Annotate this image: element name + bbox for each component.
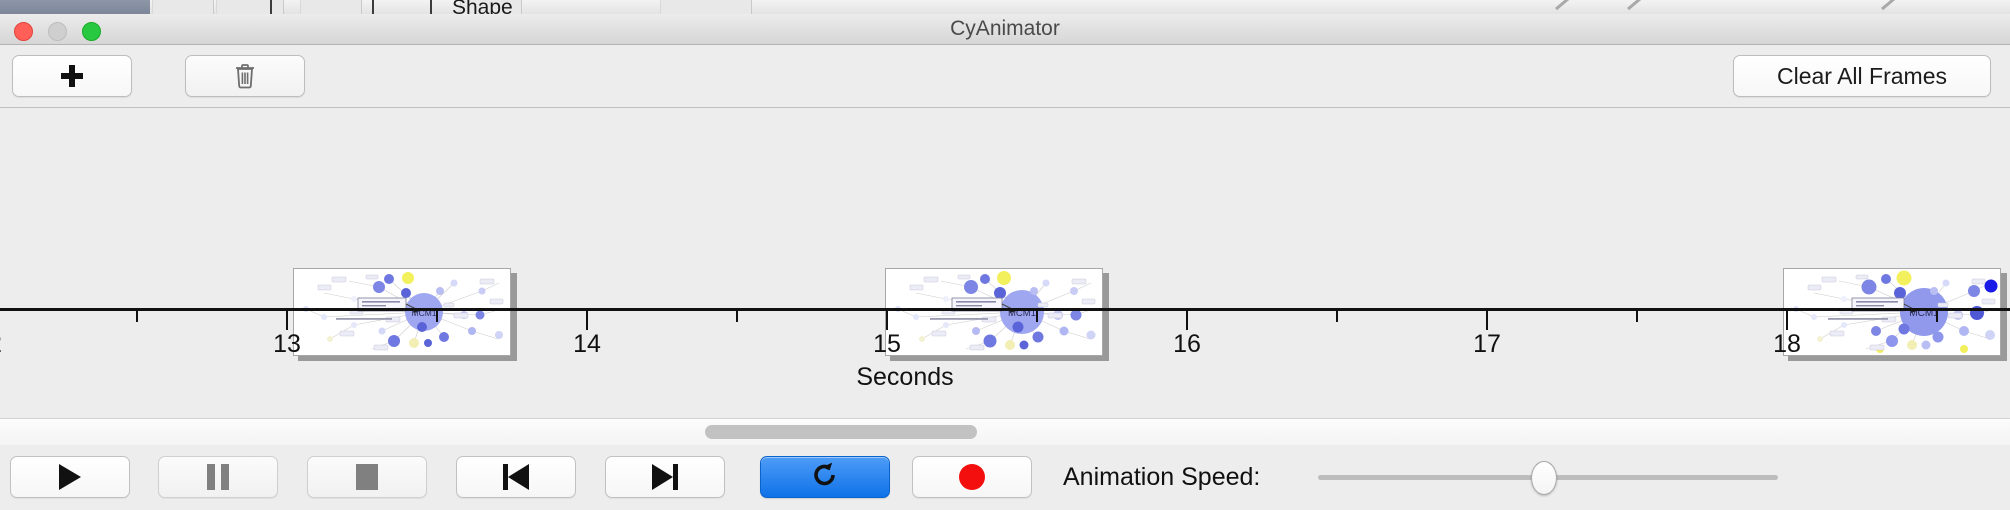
animation-speed-label: Animation Speed: xyxy=(1063,456,1260,498)
timeline-axis xyxy=(0,308,2010,311)
pause-icon xyxy=(207,464,229,490)
record-button[interactable] xyxy=(912,456,1032,498)
background-window-strip: Shape xyxy=(0,0,2010,14)
stop-button[interactable] xyxy=(307,456,427,498)
axis-tick-minor xyxy=(136,311,138,322)
first-frame-button[interactable] xyxy=(456,456,576,498)
delete-frame-button[interactable] xyxy=(185,55,305,97)
background-glyph xyxy=(430,0,432,14)
axis-tick-label: 2 xyxy=(0,330,2,359)
axis-tick-label: 18 xyxy=(1773,330,1801,359)
axis-tick-minor xyxy=(436,311,438,322)
axis-tick-minor xyxy=(1936,311,1938,322)
clear-all-frames-label: Clear All Frames xyxy=(1777,63,1947,90)
loop-icon xyxy=(810,460,840,495)
axis-tick-major xyxy=(1186,311,1188,330)
background-toolbar-block xyxy=(300,0,362,14)
axis-tick-minor xyxy=(1636,311,1638,322)
axis-tick-minor xyxy=(736,311,738,322)
plus-icon xyxy=(60,64,84,88)
axis-tick-major xyxy=(886,311,888,330)
background-toolbar-block xyxy=(152,0,214,14)
frame-thumbnail: MCM1 xyxy=(293,268,511,356)
clear-all-frames-button[interactable]: Clear All Frames xyxy=(1733,55,1991,97)
axis-tick-label: 16 xyxy=(1173,330,1201,359)
play-icon xyxy=(59,464,81,490)
axis-tick-label: 17 xyxy=(1473,330,1501,359)
window-title: CyAnimator xyxy=(0,14,2010,44)
axis-tick-label: 15 xyxy=(873,330,901,359)
axis-tick-major xyxy=(1486,311,1488,330)
background-toolbar-block xyxy=(660,0,752,14)
axis-tick-label: 13 xyxy=(273,330,301,359)
background-glyph xyxy=(372,0,374,14)
skip-to-start-icon xyxy=(503,464,529,490)
cyanimator-window: Shape CyAnimator Clear All Fr xyxy=(0,0,2010,510)
background-window-label: Shape xyxy=(452,0,513,14)
frame-thumbnail: MCM1 xyxy=(885,268,1103,356)
slider-thumb[interactable] xyxy=(1531,461,1557,495)
timeline-scrollbar-thumb[interactable] xyxy=(705,425,977,439)
axis-title: Seconds xyxy=(0,363,2010,392)
background-chevron-icon xyxy=(1555,0,1577,14)
axis-tick-major xyxy=(1786,311,1788,330)
background-glyph xyxy=(270,0,272,14)
axis-tick-label: 14 xyxy=(573,330,601,359)
background-chevron-icon xyxy=(1627,0,1649,14)
axis-tick-major xyxy=(586,311,588,330)
timeline-frame[interactable]: MCM1 xyxy=(293,268,517,361)
record-icon xyxy=(959,464,985,490)
background-chevron-icon xyxy=(1881,0,1903,14)
timeline-frame[interactable]: MCM1 xyxy=(885,268,1109,361)
axis-title-text: Seconds xyxy=(856,363,953,391)
animation-speed-slider[interactable] xyxy=(1318,475,1778,480)
add-frame-button[interactable] xyxy=(12,55,132,97)
frame-toolbar: Clear All Frames xyxy=(0,45,2010,108)
timeline-panel[interactable]: MCM1 xyxy=(0,108,2010,418)
background-toolbar-block xyxy=(216,0,284,14)
axis-tick-minor xyxy=(1036,311,1038,322)
timeline-scrollbar[interactable] xyxy=(0,418,2010,446)
skip-to-end-icon xyxy=(652,464,678,490)
loop-button[interactable] xyxy=(760,456,890,498)
timeline-content: MCM1 xyxy=(0,108,2010,418)
frame-thumbnail: MCM1 xyxy=(1783,268,2001,356)
trash-icon xyxy=(234,63,256,89)
title-bar: CyAnimator xyxy=(0,14,2010,45)
axis-tick-minor xyxy=(1336,311,1338,322)
last-frame-button[interactable] xyxy=(605,456,725,498)
playback-control-bar: Animation Speed: xyxy=(0,445,2010,510)
axis-tick-major xyxy=(286,311,288,330)
pause-button[interactable] xyxy=(158,456,278,498)
play-button[interactable] xyxy=(10,456,130,498)
timeline-frame[interactable]: MCM1 xyxy=(1783,268,2007,361)
stop-icon xyxy=(356,464,378,490)
background-window-sidebar xyxy=(0,0,150,14)
